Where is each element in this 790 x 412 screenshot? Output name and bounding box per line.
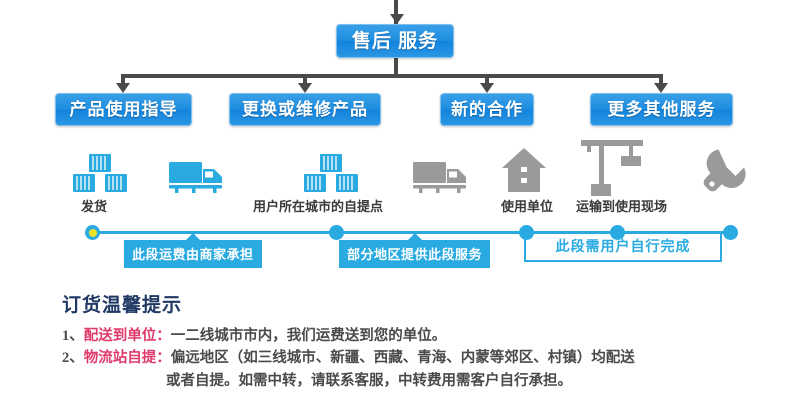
wrench-icon (700, 148, 748, 199)
connector-horizontal-bar (125, 74, 663, 78)
note-item-1: 1、 配送到单位： 一二线城市市内，我们运费送到您的单位。 (62, 325, 635, 347)
timeline-tag-user-self-complete: 此段需用户自行完成 (524, 232, 722, 262)
logistics-label-using-unit: 使用单位 (501, 196, 553, 215)
after-sales-service-infographic: 售后 服务 产品使用指导 更换或维修产品 新的合作 更多其他服务 发货 (0, 0, 790, 412)
arrow-into-node-1-icon (116, 83, 130, 93)
arrow-into-node-3-icon (480, 83, 494, 93)
note-2-body: 偏远地区（如三线城市、新疆、西藏、青海、内蒙等郊区、村镇）均配送 (171, 347, 635, 369)
flow-node-new-cooperation[interactable]: 新的合作 (440, 93, 534, 126)
logistics-label-shipping: 发货 (81, 196, 107, 215)
truck-icon-gray (412, 158, 472, 201)
arrow-into-node-4-icon (654, 83, 668, 93)
truck-icon-blue (168, 158, 228, 201)
note-1-key: 配送到单位： (84, 325, 171, 347)
note-1-number: 1、 (62, 325, 84, 347)
logistics-label-transport-to-site: 运输到使用现场 (576, 196, 667, 215)
note-item-2-continuation: 或者自提。如需中转，请联系客服，中转费用需客户自行承担。 (62, 370, 635, 392)
timeline-tag-merchant-pays-freight: 此段运费由商家承担 (124, 240, 262, 268)
note-1-body: 一二线城市市内，我们运费送到您的单位。 (171, 325, 447, 347)
order-notes-section: 订货温馨提示 1、 配送到单位： 一二线城市市内，我们运费送到您的单位。 2、 … (62, 290, 635, 392)
crane-icon (577, 140, 649, 201)
stacked-boxes-icon-shipping (72, 152, 128, 199)
stacked-boxes-icon-pickup-point (303, 152, 359, 199)
timeline-dot-start (85, 225, 100, 240)
note-item-2: 2、 物流站自提： 偏远地区（如三线城市、新疆、西藏、青海、内蒙等郊区、村镇）均… (62, 347, 635, 369)
note-2-continuation: 或者自提。如需中转，请联系客服，中转费用需客户自行承担。 (166, 370, 572, 392)
flow-node-product-usage-guidance[interactable]: 产品使用指导 (55, 93, 192, 126)
arrow-into-node-2-icon (298, 83, 312, 93)
flow-node-after-sales-service[interactable]: 售后 服务 (336, 24, 454, 58)
house-icon (500, 146, 548, 199)
arrow-into-root-icon (390, 14, 404, 24)
timeline-tag-partial-region-service: 部分地区提供此段服务 (339, 240, 490, 268)
flow-node-replace-or-repair[interactable]: 更换或维修产品 (229, 93, 381, 126)
timeline-dot-1 (329, 225, 344, 240)
note-2-number: 2、 (62, 347, 84, 369)
flow-node-more-other-services[interactable]: 更多其他服务 (590, 93, 733, 126)
logistics-label-pickup-point: 用户所在城市的自提点 (253, 196, 383, 215)
note-2-key: 物流站自提： (84, 347, 171, 369)
timeline-dot-4 (723, 225, 738, 240)
notes-title: 订货温馨提示 (62, 290, 635, 317)
